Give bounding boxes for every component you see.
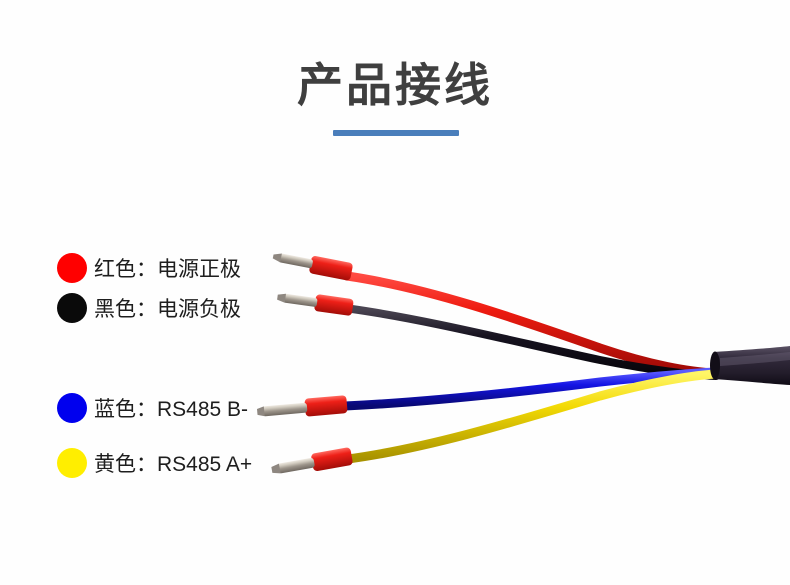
black-ferrule-collar [314, 294, 354, 316]
blue-wire-assembly [256, 372, 716, 421]
cable-sheath-cut-end [710, 352, 720, 380]
legend-item-yellow: 黄色：RS485 A+ [57, 446, 252, 480]
blue-ferrule-pin [262, 403, 308, 417]
red-ferrule-tip [272, 252, 282, 262]
blue-ferrule-collar [304, 395, 347, 417]
red-ferrule-collar [309, 255, 354, 281]
legend-label-yellow: 黄色：RS485 A+ [94, 448, 252, 478]
yellow-ferrule-collar [311, 447, 354, 472]
blue-ferrule-tip [257, 406, 265, 417]
black-ferrule-pin [283, 293, 318, 307]
red-wire [347, 276, 716, 373]
legend-label-black: 黑色：电源负极 [94, 293, 241, 323]
legend-item-red: 红色：电源正极 [57, 251, 241, 285]
legend-label-red: 红色：电源正极 [94, 253, 241, 283]
cable-photo [0, 180, 790, 540]
yellow-ferrule-pin [277, 458, 315, 474]
red-ferrule-pin [278, 253, 313, 268]
yellow-ferrule-tip [271, 464, 281, 475]
yellow-wire-assembly [270, 374, 716, 479]
title-underline-rule [333, 130, 459, 136]
cable-sheath [710, 346, 790, 385]
yellow-color-dot [57, 448, 87, 478]
legend-item-blue: 蓝色：RS485 B- [57, 391, 248, 425]
blue-color-dot [57, 393, 87, 423]
black-ferrule-tip [277, 293, 286, 303]
red-color-dot [57, 253, 87, 283]
legend-label-blue: 蓝色：RS485 B- [94, 393, 248, 423]
product-wiring-diagram: 产品接线 [0, 0, 790, 585]
legend-item-black: 黑色：电源负极 [57, 291, 241, 325]
black-color-dot [57, 293, 87, 323]
page-title: 产品接线 [0, 58, 790, 112]
